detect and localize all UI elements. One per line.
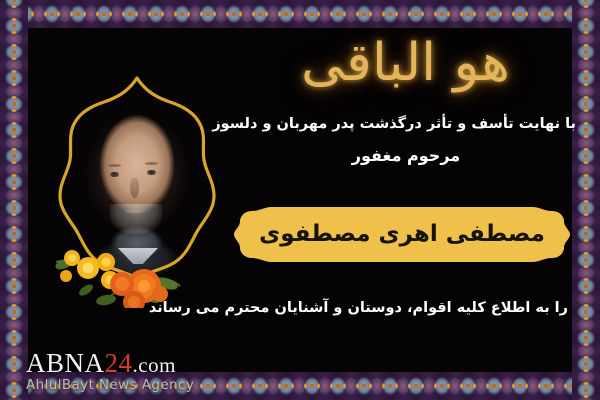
watermark-brand-domain: .com <box>133 353 176 377</box>
watermark-brand-number: 24 <box>105 348 133 378</box>
message-line-3: را به اطلاع کلیه اقوام، دوستان و آشنایان… <box>212 300 568 316</box>
message-line-2: مرحوم مغفور <box>236 146 576 165</box>
watermark-brand: ABNA24.com <box>26 350 194 377</box>
watermark-brand-prefix: ABNA <box>26 348 105 378</box>
calligraphy-text: هو الباقی <box>301 37 510 89</box>
portrait-block <box>42 72 232 304</box>
message-line-1: با نهایت تأسف و تأثر درگذشت پدر مهربان و… <box>236 116 576 132</box>
watermark-agency: AhlulBayt News Agency <box>26 379 194 393</box>
huwa-al-baqi-calligraphy: هو الباقی <box>300 22 510 104</box>
obituary-poster: هو الباقی <box>0 0 600 400</box>
border-left <box>0 0 28 400</box>
deceased-name: مصطفی اهری مصطفوی <box>234 207 570 262</box>
deceased-name-badge: مصطفی اهری مصطفوی <box>234 207 570 262</box>
message-block: با نهایت تأسف و تأثر درگذشت پدر مهربان و… <box>236 116 576 165</box>
border-right <box>572 0 600 400</box>
marigold-flowers <box>48 228 188 308</box>
watermark: ABNA24.com AhlulBayt News Agency <box>26 350 194 393</box>
